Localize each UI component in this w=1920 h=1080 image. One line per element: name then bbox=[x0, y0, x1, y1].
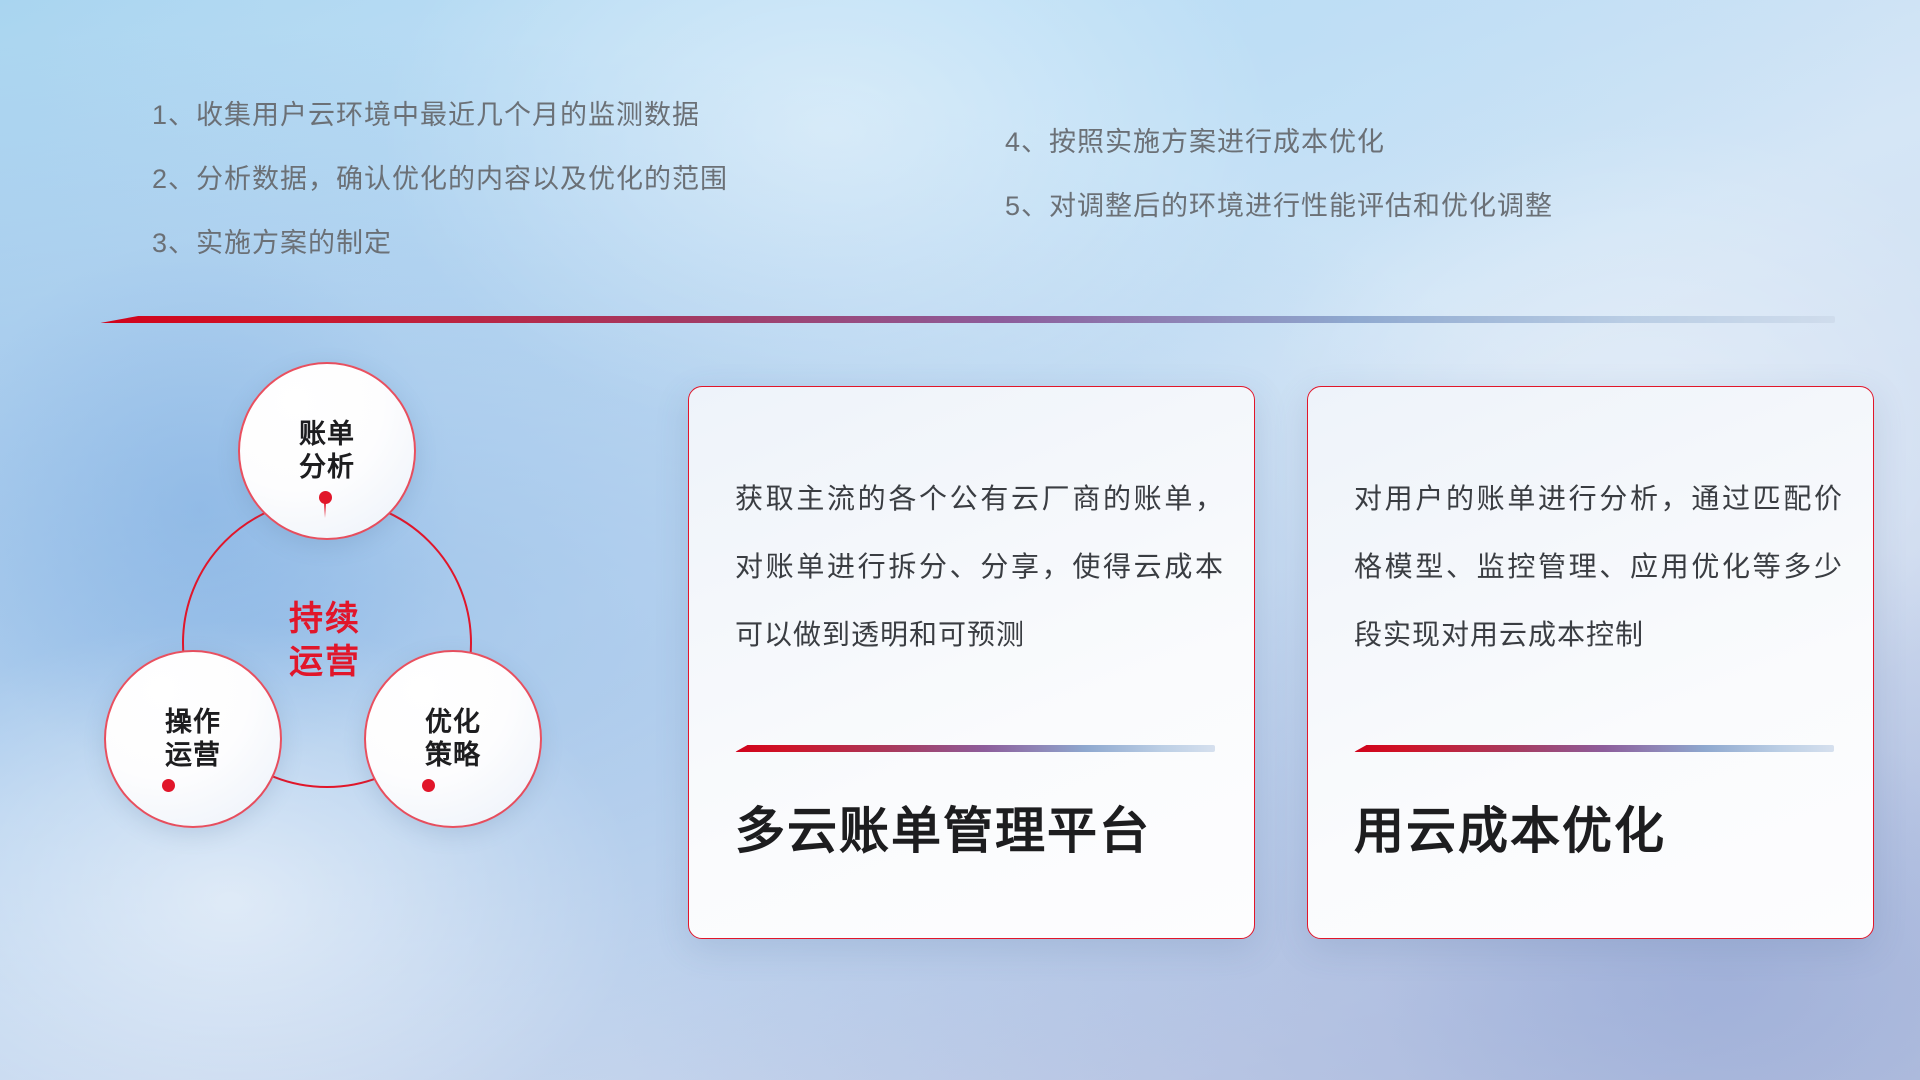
diagram-node-operations[interactable]: 操作 运营 bbox=[104, 650, 282, 828]
step-item-1: 1、收集用户云环境中最近几个月的监测数据 bbox=[152, 102, 728, 129]
diagram-node-bill-analysis[interactable]: 账单 分析 bbox=[238, 362, 416, 540]
node-optimization-line2: 策略 bbox=[425, 739, 481, 772]
step-item-4: 4、按照实施方案进行成本优化 bbox=[1005, 129, 1553, 156]
card-2-divider bbox=[1354, 745, 1834, 752]
center-label-line2: 运营 bbox=[289, 641, 361, 684]
connector-dot-bottom-right bbox=[422, 779, 435, 792]
center-label-line1: 持续 bbox=[289, 598, 361, 641]
step-item-5: 5、对调整后的环境进行性能评估和优化调整 bbox=[1005, 193, 1553, 220]
node-operations-line2: 运营 bbox=[165, 739, 221, 772]
card-1-title: 多云账单管理平台 bbox=[735, 791, 1230, 863]
slide-canvas: 1、收集用户云环境中最近几个月的监测数据 2、分析数据，确认优化的内容以及优化的… bbox=[0, 0, 1920, 1080]
steps-right-column: 4、按照实施方案进行成本优化 5、对调整后的环境进行性能评估和优化调整 bbox=[1005, 129, 1553, 220]
continuous-operation-diagram: 持续 运营 账单 分析 操作 运营 优化 策略 bbox=[92, 352, 622, 937]
step-item-3: 3、实施方案的制定 bbox=[152, 230, 728, 257]
node-optimization-line1: 优化 bbox=[425, 706, 481, 739]
diagram-node-optimization-strategy[interactable]: 优化 策略 bbox=[364, 650, 542, 828]
card-1-divider bbox=[735, 745, 1215, 752]
card-1-body-text: 获取主流的各个公有云厂商的账单，对账单进行拆分、分享，使得云成本可以做到透明和可… bbox=[735, 465, 1224, 668]
node-bill-analysis-line1: 账单 bbox=[299, 418, 355, 451]
steps-left-column: 1、收集用户云环境中最近几个月的监测数据 2、分析数据，确认优化的内容以及优化的… bbox=[152, 102, 728, 257]
card-2-title: 用云成本优化 bbox=[1354, 791, 1849, 863]
card-multi-cloud-billing-platform[interactable]: 获取主流的各个公有云厂商的账单，对账单进行拆分、分享，使得云成本可以做到透明和可… bbox=[688, 386, 1255, 939]
card-2-body-text: 对用户的账单进行分析，通过匹配价格模型、监控管理、应用优化等多少段实现对用云成本… bbox=[1354, 465, 1843, 668]
section-divider bbox=[100, 316, 1835, 323]
connector-dot-bottom-left bbox=[162, 779, 175, 792]
connector-dot-top bbox=[319, 491, 332, 504]
step-item-2: 2、分析数据，确认优化的内容以及优化的范围 bbox=[152, 166, 728, 193]
connector-tick-top bbox=[324, 502, 326, 518]
node-operations-line1: 操作 bbox=[165, 706, 221, 739]
card-cloud-cost-optimization[interactable]: 对用户的账单进行分析，通过匹配价格模型、监控管理、应用优化等多少段实现对用云成本… bbox=[1307, 386, 1874, 939]
node-bill-analysis-line2: 分析 bbox=[299, 451, 355, 484]
